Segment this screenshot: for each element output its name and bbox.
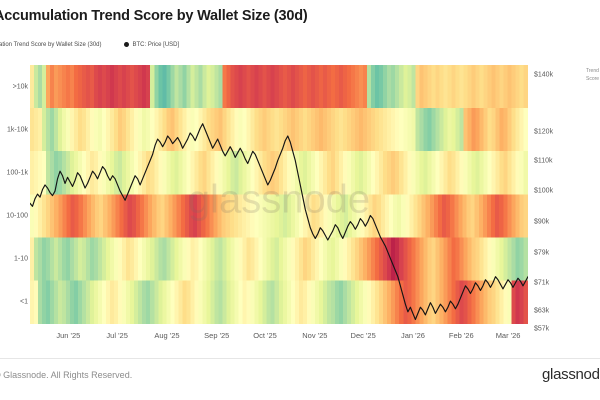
x-axis-tick: Oct '25 bbox=[253, 331, 277, 340]
x-axis: Jun '25Jul '25Aug '25Sep '25Oct '25Nov '… bbox=[30, 328, 528, 346]
y-axis-right-tick: $140k bbox=[534, 71, 553, 78]
y-axis-left-tick: 1-10 bbox=[14, 256, 28, 263]
y-axis-right-tick: $63k bbox=[534, 308, 549, 315]
x-axis-tick: Aug '25 bbox=[154, 331, 179, 340]
y-axis-left-tick: 10-100 bbox=[6, 213, 28, 220]
y-axis-right: $140k$120k$110k$100k$90k$79k$71k$63k$57k bbox=[532, 60, 578, 330]
price-line-chart bbox=[30, 65, 528, 324]
y-axis-right-tick: $100k bbox=[534, 187, 553, 194]
y-axis-left-tick: 1k-10k bbox=[7, 126, 28, 133]
x-axis-tick: Feb '26 bbox=[449, 331, 474, 340]
legend-label-btc-price: BTC: Price [USD] bbox=[133, 42, 180, 48]
y-axis-left-tick: >10k bbox=[13, 83, 28, 90]
footer-copyright: © Glassnode. All Rights Reserved. bbox=[0, 370, 132, 380]
x-axis-tick: Jul '25 bbox=[106, 331, 127, 340]
x-axis-tick: Dec '25 bbox=[351, 331, 376, 340]
y-axis-right-tick: $71k bbox=[534, 279, 549, 286]
footer-divider bbox=[0, 358, 600, 359]
glassnode-logo: glassnode bbox=[542, 366, 600, 383]
colorbar-axis-label: Trend Score bbox=[586, 68, 599, 83]
legend-item-ats[interactable]: Accumulation Trend Score by Wallet Size … bbox=[0, 41, 102, 48]
legend-item-btc-price[interactable]: BTC: Price [USD] bbox=[124, 42, 180, 48]
plot-area[interactable]: glassnode bbox=[30, 65, 528, 324]
colorbar-label-line-1: Trend bbox=[586, 68, 599, 76]
x-axis-tick: Mar '26 bbox=[496, 331, 521, 340]
y-axis-right-tick: $110k bbox=[534, 158, 553, 165]
legend-label-ats: Accumulation Trend Score by Wallet Size … bbox=[0, 42, 102, 48]
chart-legend: Accumulation Trend Score by Wallet Size … bbox=[0, 41, 179, 48]
x-axis-tick: Jan '26 bbox=[401, 331, 425, 340]
y-axis-right-tick: $90k bbox=[534, 219, 549, 226]
dot-marker-icon bbox=[124, 42, 129, 47]
x-axis-tick: Nov '25 bbox=[302, 331, 327, 340]
price-line-path bbox=[30, 124, 528, 320]
x-axis-tick: Jun '25 bbox=[56, 331, 80, 340]
y-axis-left-tick: <1 bbox=[20, 299, 28, 306]
y-axis-left-tick: 100-1k bbox=[7, 169, 28, 176]
page-title: Accumulation Trend Score by Wallet Size … bbox=[0, 8, 308, 24]
y-axis-right-tick: $120k bbox=[534, 128, 553, 135]
colorbar-label-line-2: Score bbox=[586, 76, 599, 84]
y-axis-right-tick: $79k bbox=[534, 250, 549, 257]
y-axis-right-tick: $57k bbox=[534, 325, 549, 332]
chart-root: Accumulation Trend Score by Wallet Size … bbox=[0, 0, 600, 400]
y-axis-left: >10k1k-10k100-1k10-1001-10<1 bbox=[0, 65, 30, 324]
x-axis-tick: Sep '25 bbox=[204, 331, 229, 340]
